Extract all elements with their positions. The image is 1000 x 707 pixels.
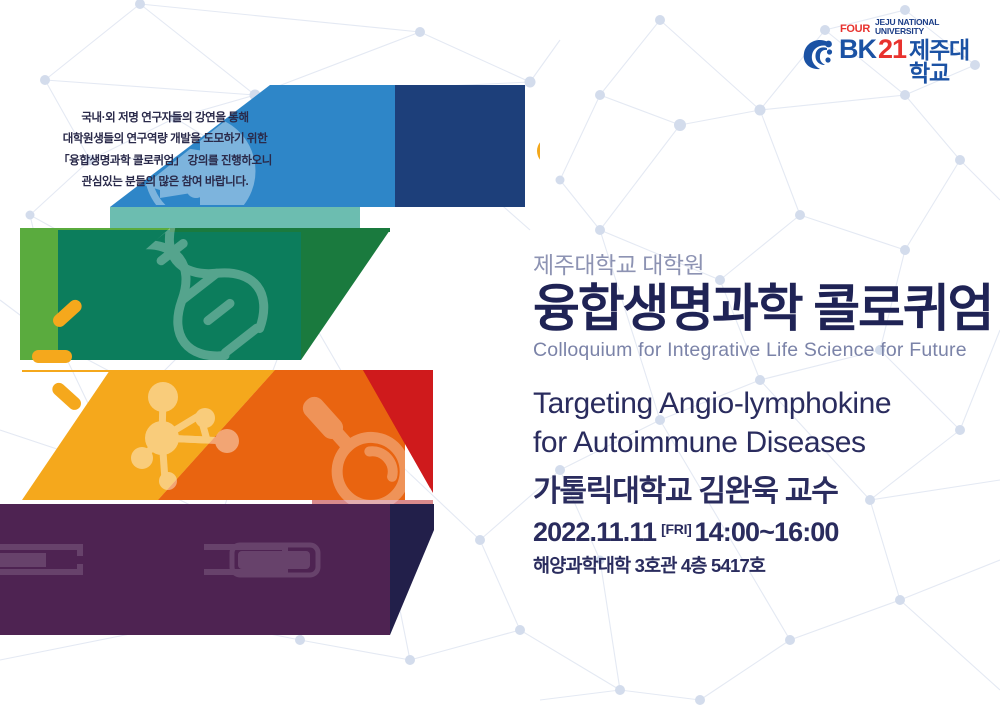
purple-block xyxy=(0,504,434,635)
green-block xyxy=(20,203,390,370)
intro-paragraph: 국내·외 저명 연구자들의 강연을 통해 대학원생들의 연구역량 개발을 도모하… xyxy=(20,108,310,193)
event-datetime: 2022.11.11 [FRI] 14:00~16:00 xyxy=(533,515,995,550)
poster-canvas: FOUR JEJU NATIONAL UNIVERSITY BK 21 제주대학… xyxy=(0,0,1000,707)
organization-label: 제주대학교 대학원 xyxy=(533,252,995,278)
event-date: 2022.11.11 xyxy=(533,515,656,550)
speaker-name: 가톨릭대학교 김완욱 교수 xyxy=(533,472,995,511)
intro-line-4: 관심있는 분들의 많은 참여 바랍니다. xyxy=(20,172,310,193)
event-venue: 해양과학대학 3호관 4층 5417호 xyxy=(533,554,995,578)
logo-bk-text: BK xyxy=(839,36,876,63)
subtitle-english: Colloquium for Integrative Life Science … xyxy=(533,339,995,362)
bk21-logo: FOUR JEJU NATIONAL UNIVERSITY BK 21 제주대학… xyxy=(798,30,978,78)
logo-21-text: 21 xyxy=(878,36,906,63)
event-time: 14:00~16:00 xyxy=(695,515,839,550)
intro-line-2: 대학원생들의 연구역량 개발을 도모하기 위한 xyxy=(20,129,310,150)
talk-title-line-2: for Autoimmune Diseases xyxy=(533,423,995,462)
logo-university-kr: 제주대학교 xyxy=(909,39,978,85)
event-day-of-week: [FRI] xyxy=(661,520,691,538)
intro-line-1: 국내·외 저명 연구자들의 강연을 통해 xyxy=(20,108,310,129)
talk-title-line-1: Targeting Angio-lymphokine xyxy=(533,384,995,423)
bk21-swirl-icon xyxy=(798,34,838,74)
intro-line-3: 「융합생명과학 콜로퀴엄」 강의를 진행하오니 xyxy=(20,151,310,172)
info-panel: 제주대학교 대학원 융합생명과학 콜로퀴엄 Colloquium for Int… xyxy=(533,252,995,578)
page-title: 융합생명과학 콜로퀴엄 xyxy=(533,281,995,337)
atom-icon xyxy=(532,98,540,246)
logo-university-en: JEJU NATIONAL UNIVERSITY xyxy=(875,18,978,35)
talk-title: Targeting Angio-lymphokine for Autoimmun… xyxy=(533,384,995,462)
electron-orange xyxy=(537,137,540,165)
